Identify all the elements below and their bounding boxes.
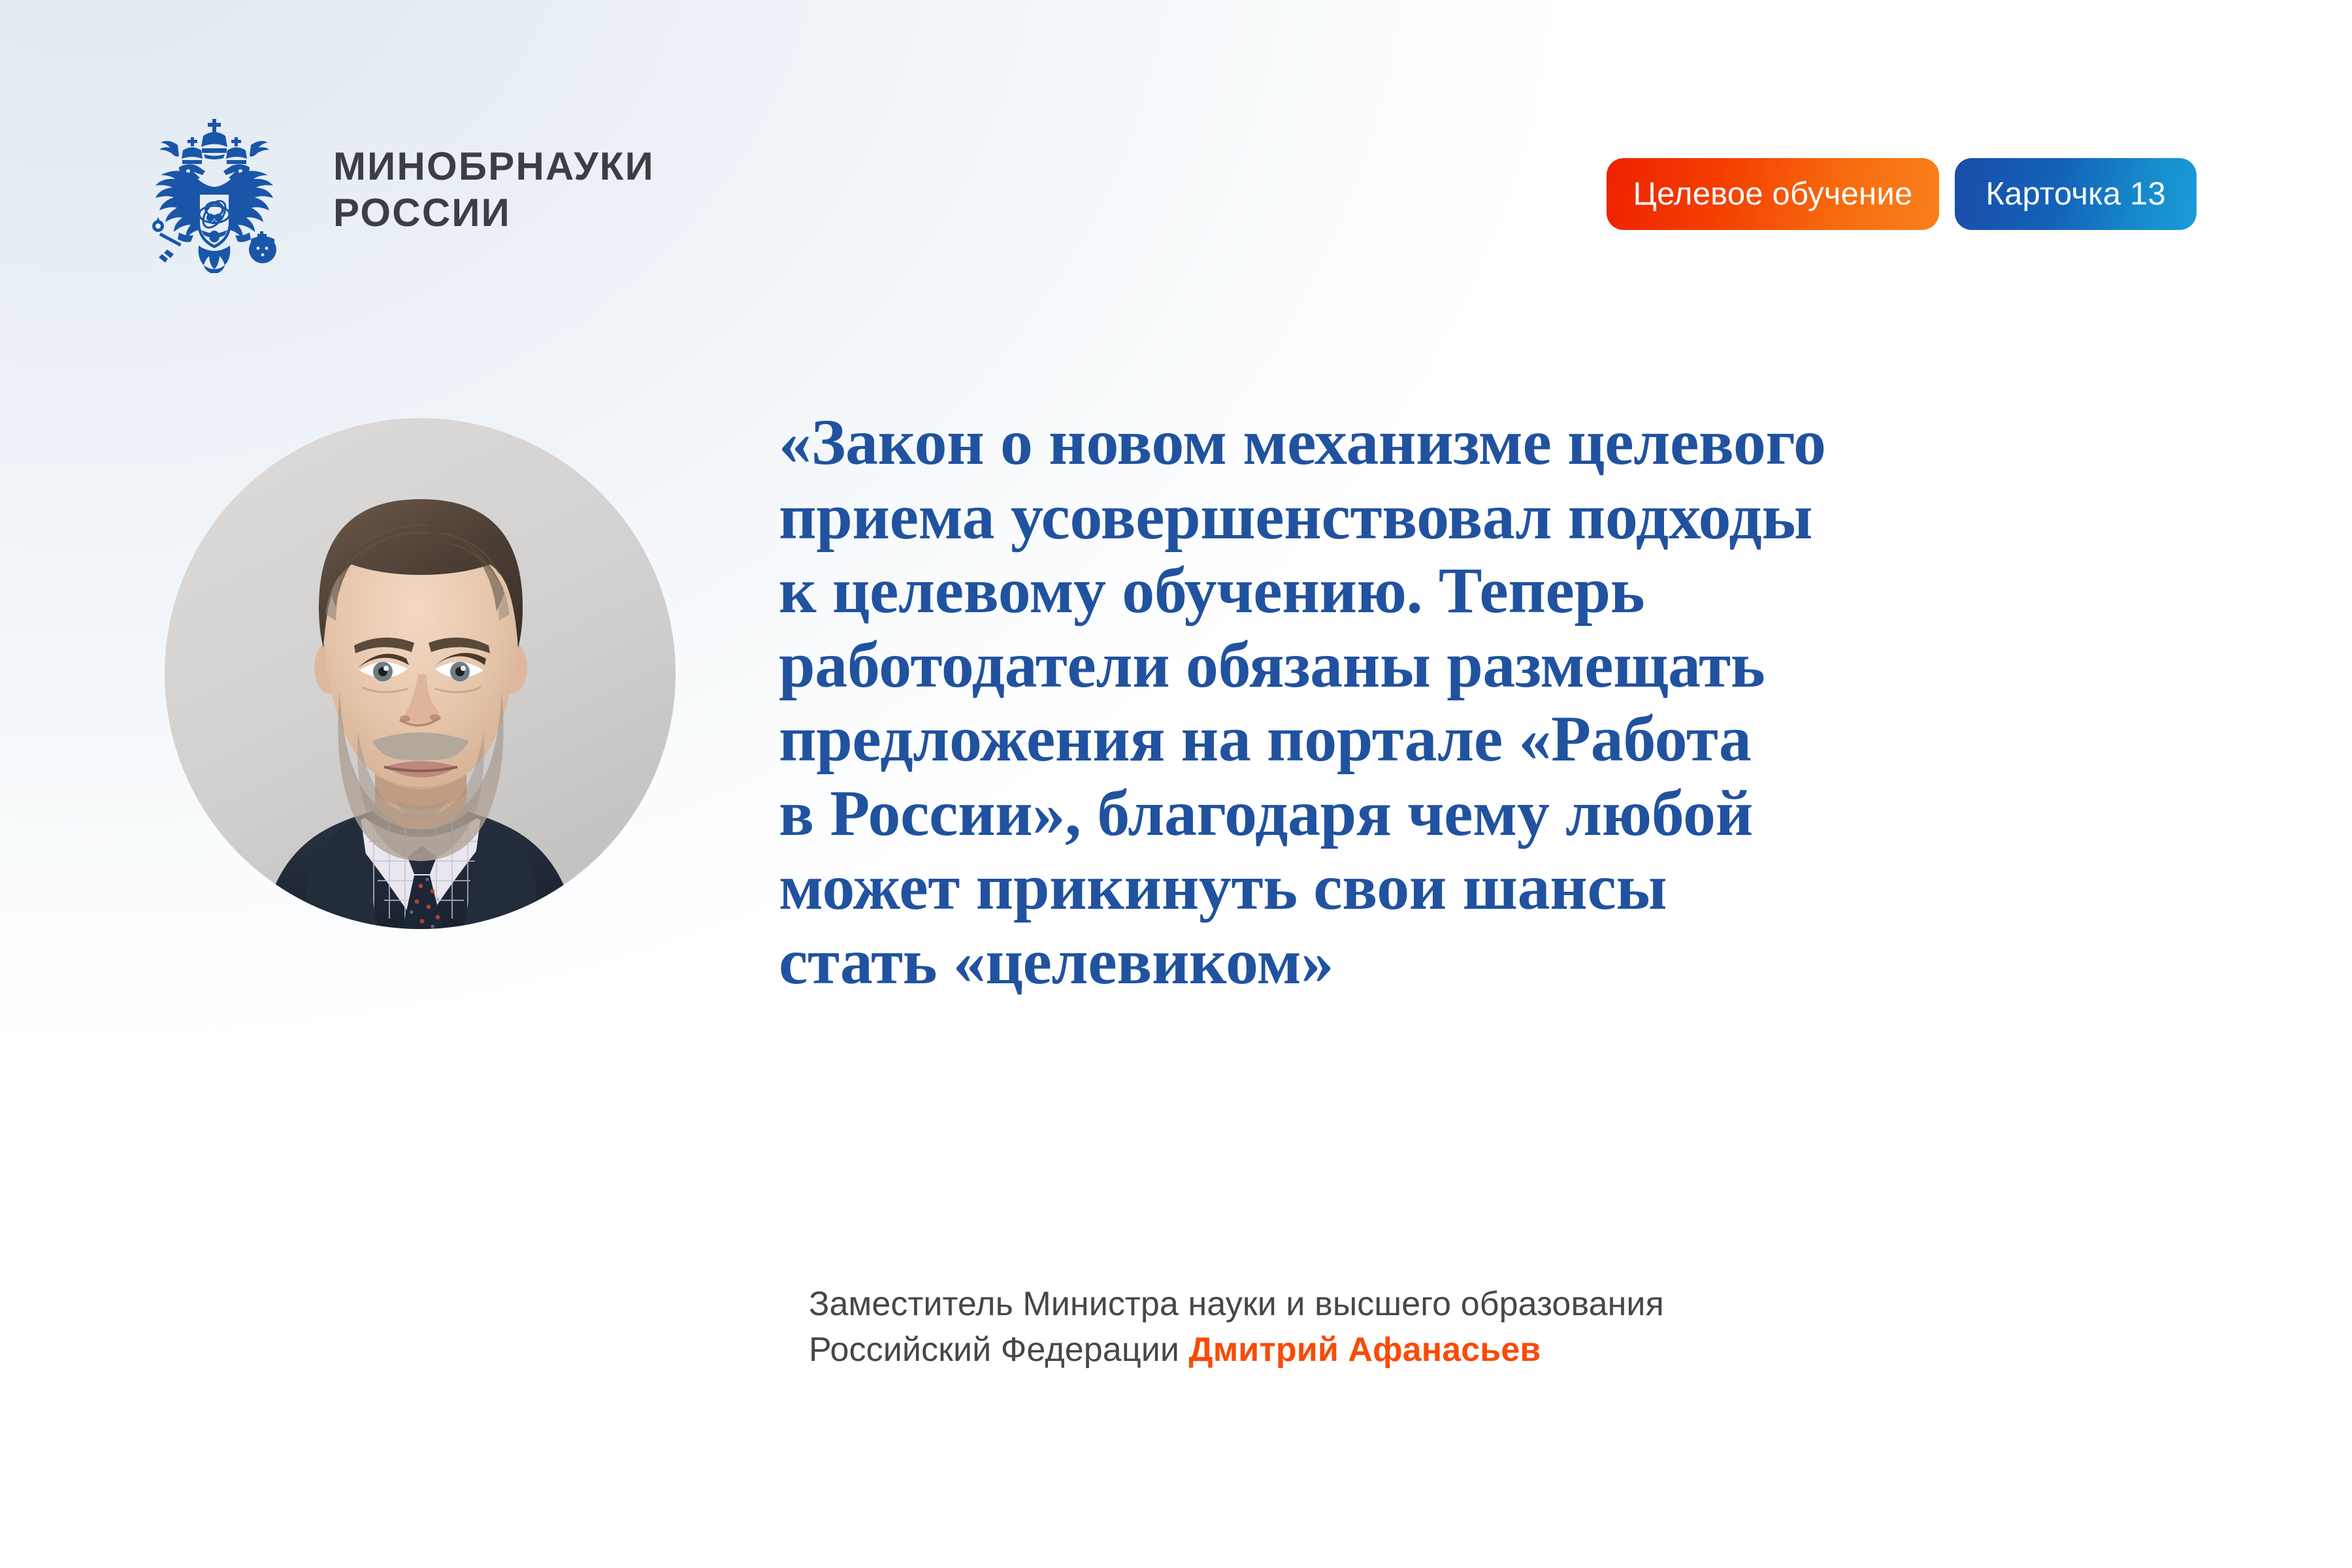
ministry-brand: МИНОБРНАУКИ РОССИИ — [139, 111, 655, 273]
attribution-line-2-prefix: Российский Федерации — [809, 1331, 1189, 1369]
attribution-line-2: Российский Федерации Дмитрий Афанасьев — [809, 1328, 2246, 1373]
badge-card-number[interactable]: Карточка 13 — [1955, 158, 2197, 230]
badge-topic[interactable]: Целевое обучение — [1607, 158, 1940, 230]
avatar — [165, 418, 676, 929]
ministry-name-label: МИНОБРНАУКИ РОССИИ — [333, 144, 655, 240]
attribution-line-1: Заместитель Министра науки и высшего обр… — [809, 1282, 2246, 1328]
attribution-person-name: Дмитрий Афанасьев — [1189, 1331, 1541, 1369]
infographic-card: МИНОБРНАУКИ РОССИИ Целевое обучение Карт… — [0, 0, 2352, 1568]
attribution: Заместитель Министра науки и высшего обр… — [809, 1282, 2246, 1373]
quote-text: «Закон о новом механизме целевого приема… — [779, 405, 2295, 998]
badge-group: Целевое обучение Карточка 13 — [1607, 158, 2197, 230]
russian-double-headed-eagle-emblem-icon — [139, 111, 290, 273]
quote-block: «Закон о новом механизме целевого приема… — [779, 405, 2295, 998]
card-header: МИНОБРНАУКИ РОССИИ Целевое обучение Карт… — [0, 0, 2352, 307]
